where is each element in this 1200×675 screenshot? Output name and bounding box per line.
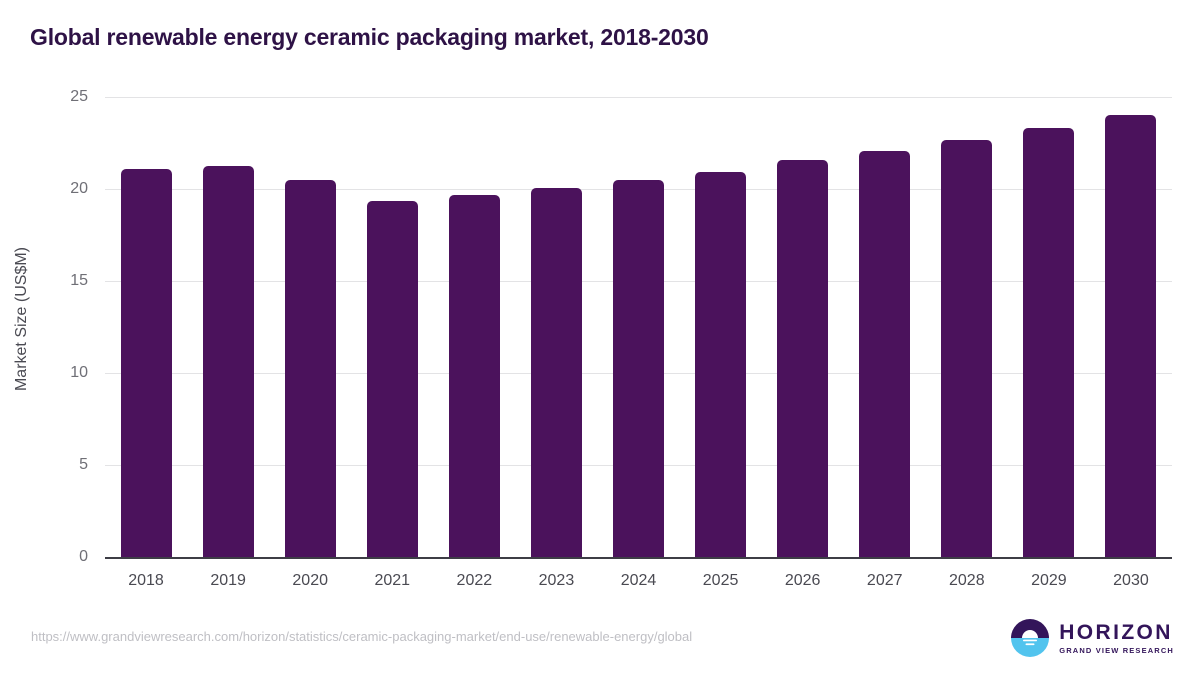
logo-wordmark: HORIZON GRAND VIEW RESEARCH — [1059, 622, 1174, 655]
x-axis-tick-label-2028: 2028 — [949, 572, 985, 590]
x-axis-tick-label-2022: 2022 — [457, 572, 493, 590]
x-axis-tick-label-2023: 2023 — [539, 572, 575, 590]
x-axis-tick-label-2025: 2025 — [703, 572, 739, 590]
gridline — [105, 557, 1172, 559]
gridline — [105, 97, 1172, 98]
x-axis-tick-label-2030: 2030 — [1113, 572, 1149, 590]
bar-2020[interactable] — [285, 180, 336, 557]
horizon-sunset-circle-icon — [1010, 618, 1050, 658]
plot-area — [105, 97, 1172, 557]
x-axis-tick-label-2020: 2020 — [292, 572, 328, 590]
bar-2024[interactable] — [613, 180, 664, 557]
page-title: Global renewable energy ceramic packagin… — [30, 24, 709, 51]
bar-2019[interactable] — [203, 166, 254, 557]
bar-2023[interactable] — [531, 188, 582, 557]
chart-page: Global renewable energy ceramic packagin… — [0, 0, 1200, 675]
bar-2025[interactable] — [695, 172, 746, 557]
logo-tagline: GRAND VIEW RESEARCH — [1059, 647, 1174, 655]
bar-2022[interactable] — [449, 195, 500, 557]
x-axis-tick-label-2026: 2026 — [785, 572, 821, 590]
bar-2030[interactable] — [1105, 115, 1156, 557]
horizon-logo[interactable]: HORIZON GRAND VIEW RESEARCH — [1010, 617, 1174, 659]
x-axis-tick-label-2021: 2021 — [374, 572, 410, 590]
bar-2026[interactable] — [777, 160, 828, 557]
x-axis-tick-label-2027: 2027 — [867, 572, 903, 590]
x-axis-tick-label-2019: 2019 — [210, 572, 246, 590]
logo-name: HORIZON — [1059, 622, 1174, 643]
bar-2021[interactable] — [367, 201, 418, 557]
bar-2028[interactable] — [941, 140, 992, 557]
bar-2027[interactable] — [859, 151, 910, 557]
x-axis-tick-label-2029: 2029 — [1031, 572, 1067, 590]
bar-2029[interactable] — [1023, 128, 1074, 557]
x-axis-tick-label-2024: 2024 — [621, 572, 657, 590]
x-axis-tick-label-2018: 2018 — [128, 572, 164, 590]
bar-2018[interactable] — [121, 169, 172, 557]
y-axis-title: Market Size (US$M) — [13, 39, 31, 599]
source-url[interactable]: https://www.grandviewresearch.com/horizo… — [31, 629, 692, 644]
